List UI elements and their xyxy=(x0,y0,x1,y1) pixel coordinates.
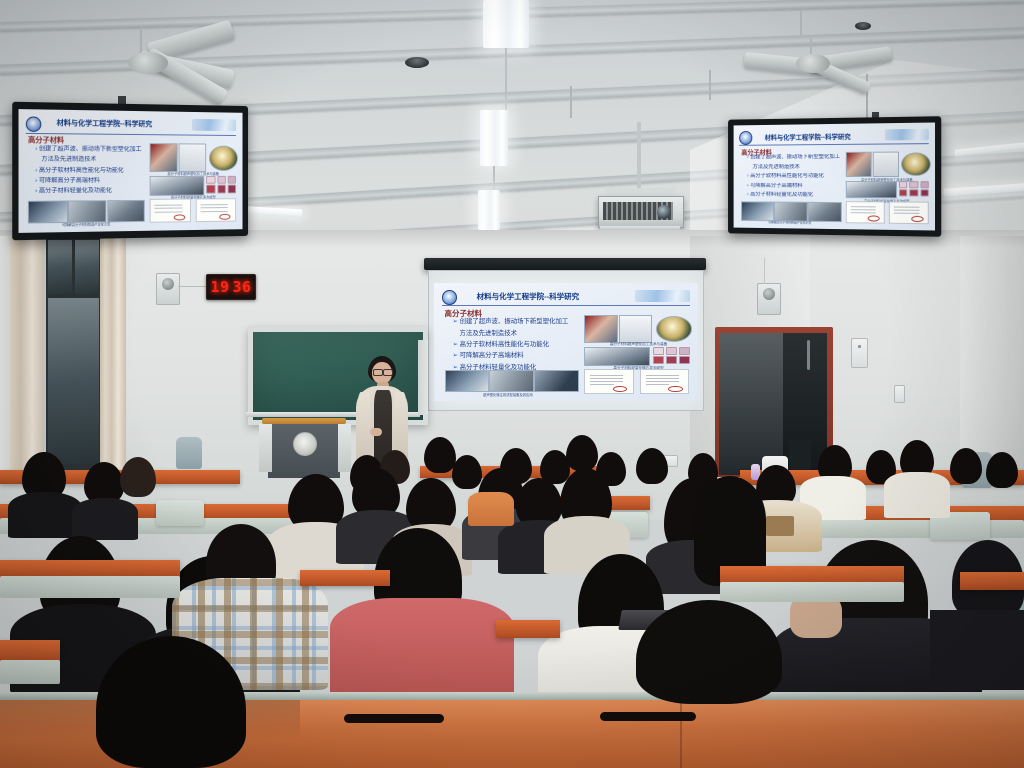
slide-image xyxy=(872,152,899,178)
slide-image xyxy=(774,201,807,221)
student-head xyxy=(950,448,982,484)
slide-image xyxy=(150,176,204,196)
light-rod xyxy=(493,166,495,190)
wall-speaker-left xyxy=(156,273,180,305)
smoke-detector-icon xyxy=(855,22,871,30)
projection-screen[interactable]: 材料与化学工程学院--科学研究 高分子材料 ➢ 创建了超声波、振动场下新型塑化加… xyxy=(428,270,704,411)
slide-document xyxy=(196,198,236,223)
slide-image xyxy=(68,200,107,223)
slide-image xyxy=(534,370,578,392)
light-rod xyxy=(709,70,711,100)
clock-hours: 19 xyxy=(210,278,229,296)
slide-image xyxy=(445,370,489,392)
slide-bullet: ➢ 创建了超声波、振动场下新型塑化加工 xyxy=(452,317,576,327)
slide-image xyxy=(178,144,206,172)
slide-content-main: 材料与化学工程学院--科学研究 高分子材料 ➢ 创建了超声波、振动场下新型塑化加… xyxy=(434,283,698,401)
slide-image xyxy=(489,370,533,392)
desk-slot-handle[interactable] xyxy=(600,712,696,721)
student-head xyxy=(452,455,482,489)
slide-bullet: ➢ 可降解高分子高端材料 xyxy=(452,351,576,361)
desk-front-panel xyxy=(0,576,180,598)
pendant-light xyxy=(483,0,529,48)
hoodie-patch xyxy=(766,516,794,536)
slide-image xyxy=(28,200,68,223)
slide-bullet: 方法及先进制造技术 xyxy=(35,156,143,165)
slide-image xyxy=(619,315,653,343)
desk-seam xyxy=(680,700,682,768)
student-body xyxy=(330,598,514,704)
slide-image xyxy=(150,144,178,172)
slide-bullet: › 高分子软材料高性能化与功能化 xyxy=(747,173,840,181)
student-body xyxy=(930,610,1024,690)
slide-bullet: › 高分子材料轻量化及功能化 xyxy=(35,187,143,196)
slide-document xyxy=(150,198,191,223)
slide-image xyxy=(107,200,145,223)
slide-bullet: › 可降解高分子高端材料 xyxy=(35,177,143,186)
slide-document xyxy=(640,369,690,393)
wall-display-left[interactable]: 材料与化学工程学院--科学研究 高分子材料 › 创建了超声波、振动场下新型塑化加… xyxy=(12,102,248,241)
wall-return xyxy=(0,236,10,472)
projector-mount xyxy=(637,122,641,192)
slide-bullet: 方法及先进制造技术 xyxy=(747,164,840,172)
slide-caption: 可降解高分子材料制品产业化示范 xyxy=(739,219,841,224)
slide-image xyxy=(209,145,239,170)
slide-bullet: ➢ 高分子软材料高性能化与功能化 xyxy=(452,340,576,350)
slide-document xyxy=(584,369,634,393)
slide-header-title: 材料与化学工程学院--科学研究 xyxy=(765,131,851,142)
slide-caption: 可降解高分子材料制品产业化示范 xyxy=(26,221,146,228)
slide-image xyxy=(584,347,649,367)
projector-bracket xyxy=(606,188,676,196)
desk-row xyxy=(496,620,560,638)
slide-image xyxy=(808,202,842,222)
student-head xyxy=(636,448,668,484)
light-rod xyxy=(570,86,572,118)
stacked-chair[interactable] xyxy=(176,437,202,469)
clock-minutes: 36 xyxy=(233,278,252,296)
slide-image xyxy=(584,315,618,343)
lectern-emblem-icon xyxy=(293,432,317,456)
student-head xyxy=(986,452,1018,488)
student-head xyxy=(566,435,598,471)
slide-swatches xyxy=(206,176,236,184)
slide-bullet: › 可降解高分子高端材料 xyxy=(747,183,840,191)
speaker-wire xyxy=(178,286,206,287)
slide-document xyxy=(846,201,885,224)
slide-header-title: 材料与化学工程学院--科学研究 xyxy=(57,118,152,129)
lectern-side xyxy=(338,424,351,472)
slide-bullet: › 高分子软材料高性能化与功能化 xyxy=(35,166,143,175)
slide-content-right: 材料与化学工程学院--科学研究 高分子材料 › 创建了超声波、振动场下新型塑化加… xyxy=(734,122,935,230)
slide-bullet: › 创建了超声波、振动场下新型塑化加工 xyxy=(35,145,143,154)
pendant-light xyxy=(478,190,500,230)
desk-front-panel xyxy=(720,582,904,602)
college-emblem-icon xyxy=(26,117,42,133)
slide-swatches xyxy=(899,189,928,197)
slide-swatches xyxy=(206,185,236,193)
desk-front-panel xyxy=(0,660,60,684)
slide-swatches xyxy=(899,181,928,189)
lectern-side xyxy=(259,424,272,472)
slide-image xyxy=(656,316,692,342)
lecture-hall-photo: 19 36 材料与化学工程学院--科学研究 高分子材料 › 创建了超声波、振动场… xyxy=(0,0,1024,768)
student-head-foreground xyxy=(636,600,782,704)
wall-speaker-right xyxy=(757,283,781,315)
college-emblem-icon xyxy=(739,131,752,144)
slide-bullet: 方法及先进制造技术 xyxy=(452,329,576,339)
slide-document xyxy=(889,201,929,224)
light-rod xyxy=(800,10,802,36)
slide-image xyxy=(846,181,897,199)
slide-bullet: › 创建了超声波、振动场下新型塑化加工 xyxy=(747,154,840,162)
window-left[interactable] xyxy=(44,236,106,472)
slide-section-title: 高分子材料 xyxy=(28,135,64,146)
ceiling-projector[interactable] xyxy=(598,196,684,228)
desk-slot-handle[interactable] xyxy=(344,714,444,723)
student-body xyxy=(72,498,138,540)
wall-display-right[interactable]: 材料与化学工程学院--科学研究 高分子材料 › 创建了超声波、振动场下新型塑化加… xyxy=(728,116,941,237)
slide-image xyxy=(901,153,930,177)
college-emblem-icon xyxy=(442,290,457,305)
slide-bullet: › 高分子材料轻量化及功能化 xyxy=(747,192,840,200)
led-wall-clock: 19 36 xyxy=(206,274,256,300)
slide-image xyxy=(846,152,873,177)
wall-outlet[interactable] xyxy=(894,385,905,403)
student-body xyxy=(884,472,950,518)
slide-image xyxy=(741,201,774,221)
light-rod xyxy=(505,48,507,110)
slide-caption: 超声塑化微注射成型装备及其应用 xyxy=(442,392,574,397)
window-curtain xyxy=(100,236,126,470)
smoke-detector-icon xyxy=(405,57,429,68)
speaker-wire xyxy=(764,258,765,284)
desk-row xyxy=(0,640,60,662)
pendant-light xyxy=(480,110,508,166)
screen-housing xyxy=(424,258,706,270)
slide-header-title: 材料与化学工程学院--科学研究 xyxy=(477,291,580,302)
desk-row xyxy=(960,572,1024,590)
slide-swatches xyxy=(653,356,690,364)
slide-content-left: 材料与化学工程学院--科学研究 高分子材料 › 创建了超声波、振动场下新型塑化加… xyxy=(19,109,243,233)
wall-switch-panel[interactable] xyxy=(851,338,868,368)
student-sleeve xyxy=(468,492,514,526)
door-handle[interactable] xyxy=(807,340,810,370)
student-body xyxy=(8,492,82,538)
board-edge xyxy=(418,340,428,415)
door-panel[interactable] xyxy=(719,333,783,475)
desk-row xyxy=(300,570,390,586)
slide-swatches xyxy=(653,347,690,355)
student-head xyxy=(424,437,456,473)
student-head xyxy=(120,457,156,497)
seat-back xyxy=(156,500,204,526)
